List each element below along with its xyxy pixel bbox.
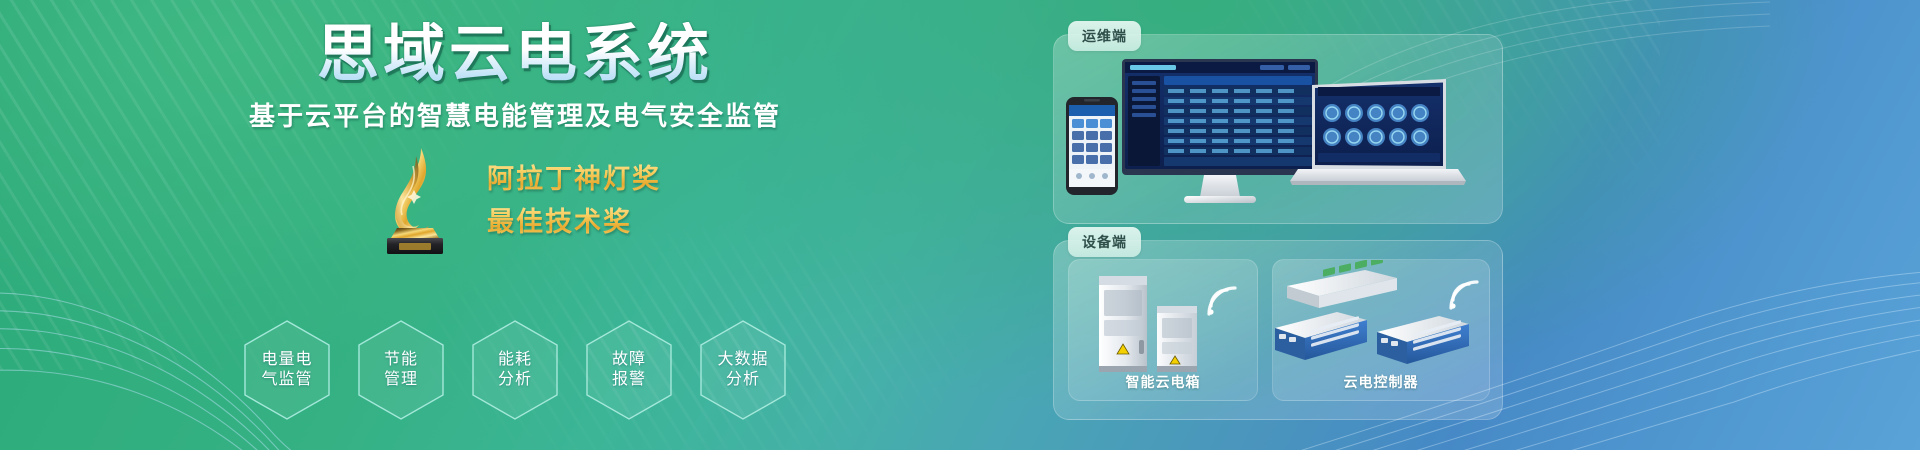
- feature-badge-fault-alarm[interactable]: 故障 报警: [583, 318, 675, 422]
- panel-device-side: 设备端: [1053, 240, 1503, 420]
- badge-line-2: 分析: [498, 370, 532, 390]
- banner-subtitle: 基于云平台的智慧电能管理及电气安全监管: [0, 96, 1030, 133]
- banner-title: 思域云电系统: [0, 22, 1030, 87]
- device-card-cloud-controller[interactable]: 云电控制器: [1272, 259, 1490, 401]
- badge-line-2: 报警: [612, 370, 646, 390]
- promo-banner: 思域云电系统 思域云电系统 基于云平台的智慧电能管理及电气安全监管: [0, 0, 1920, 450]
- badge-line-2: 气监管: [261, 370, 312, 390]
- smartphone-icon: [1066, 97, 1118, 195]
- award-text-block: 阿拉丁神灯奖 最佳技术奖: [487, 157, 661, 239]
- award-line-1: 阿拉丁神灯奖: [487, 157, 661, 196]
- wifi-signal-icon: [1208, 288, 1235, 315]
- badge-line-1: 电量电: [261, 350, 312, 370]
- feature-badge-electric-monitoring[interactable]: 电量电 气监管: [241, 318, 333, 422]
- badge-line-2: 管理: [384, 370, 418, 390]
- flame-trophy-icon: [369, 142, 465, 254]
- panel-tag-device: 设备端: [1068, 227, 1141, 257]
- award-block: 阿拉丁神灯奖 最佳技术奖: [0, 142, 1030, 254]
- award-line-2: 最佳技术奖: [487, 200, 661, 239]
- operations-devices-illustration: [1054, 35, 1504, 225]
- banner-left-content: 思域云电系统 思域云电系统 基于云平台的智慧电能管理及电气安全监管: [0, 0, 1030, 450]
- feature-badge-label: 能耗 分析: [498, 350, 532, 390]
- badge-line-1: 节能: [384, 350, 418, 370]
- feature-badge-big-data-analysis[interactable]: 大数据 分析: [697, 318, 789, 422]
- laptop-icon: [1290, 79, 1466, 185]
- badge-line-2: 分析: [717, 370, 768, 390]
- feature-badge-label: 节能 管理: [384, 350, 418, 390]
- feature-badge-energy-saving[interactable]: 节能 管理: [355, 318, 447, 422]
- panel-operations-side: 运维端: [1053, 34, 1503, 224]
- banner-right-content: 运维端: [1045, 0, 1920, 450]
- device-caption: 智能云电箱: [1069, 372, 1257, 392]
- badge-line-1: 能耗: [498, 350, 532, 370]
- device-caption: 云电控制器: [1273, 372, 1489, 392]
- feature-badge-row: 电量电 气监管 节能 管理 能耗 分析: [0, 318, 1030, 422]
- feature-badge-label: 大数据 分析: [717, 350, 768, 390]
- feature-badge-label: 电量电 气监管: [261, 350, 312, 390]
- controller-module-icon: [1273, 260, 1491, 378]
- device-card-smart-cabinet[interactable]: 智能云电箱: [1068, 259, 1258, 401]
- badge-line-1: 故障: [612, 350, 646, 370]
- wifi-signal-icon: [1450, 282, 1477, 309]
- feature-badge-consumption-analysis[interactable]: 能耗 分析: [469, 318, 561, 422]
- feature-badge-label: 故障 报警: [612, 350, 646, 390]
- desktop-monitor-icon: [1122, 59, 1318, 203]
- badge-line-1: 大数据: [717, 350, 768, 370]
- electrical-cabinet-icon: [1069, 260, 1259, 378]
